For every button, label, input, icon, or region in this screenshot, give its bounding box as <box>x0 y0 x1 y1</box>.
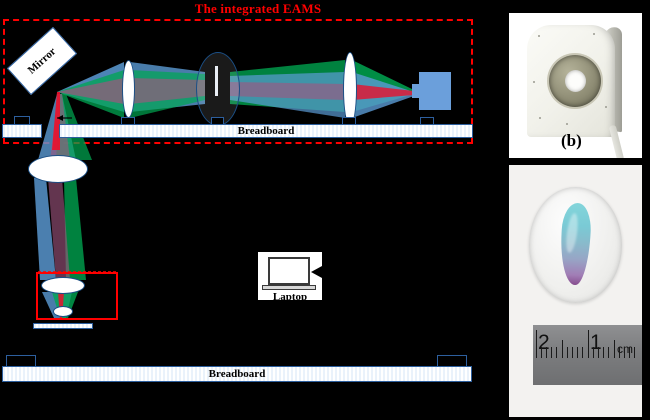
tube-lens <box>28 155 88 183</box>
mount-aperture-hole <box>565 70 586 92</box>
chopper-disc <box>196 52 240 126</box>
ruler-tick-minor <box>634 347 635 358</box>
mount-screw <box>538 35 540 37</box>
page-title: The integrated EAMS <box>148 1 368 17</box>
laptop-label: Laptop <box>258 291 322 300</box>
collimating-lens <box>122 60 135 118</box>
ruler-label-2: 2 <box>538 331 550 355</box>
mount-screw <box>566 123 568 125</box>
mount-screw <box>539 117 541 119</box>
mount-screw <box>593 33 595 35</box>
breadboard-top: Breadboard <box>59 124 473 138</box>
ruler-tick-mid <box>614 340 615 358</box>
ruler-tick-minor <box>556 347 557 358</box>
breadboard-bottom: Breadboard <box>2 366 472 382</box>
chopper-slit <box>215 66 218 96</box>
detector-nose <box>412 84 420 98</box>
ruler-tick-major <box>588 330 589 358</box>
mount-foot <box>437 355 467 366</box>
ruler-tick-minor <box>624 347 625 358</box>
detector-component <box>419 72 451 110</box>
mount-screw <box>533 81 535 83</box>
ruler-tick-major <box>536 330 537 358</box>
ruler-tick-minor <box>541 347 542 358</box>
sample-slide <box>33 323 93 329</box>
breadboard-bottom-label: Breadboard <box>209 368 266 380</box>
ruler-tick-minor <box>551 347 552 358</box>
ruler-tick-minor <box>598 347 599 358</box>
panel-b-photo: (b) <box>509 13 642 158</box>
objective-tip <box>53 306 73 317</box>
ruler-tick-minor <box>567 347 568 358</box>
laptop-screen <box>268 257 310 285</box>
panel-b-label: (b) <box>561 131 582 151</box>
ruler-tick-minor <box>619 347 620 358</box>
ruler-tick-minor <box>582 347 583 358</box>
ruler-tick-minor <box>572 347 573 358</box>
breadboard-segment-left <box>2 124 42 138</box>
ruler-tick-mid <box>562 340 563 358</box>
ruler-tick-minor <box>546 347 547 358</box>
objective-lens <box>41 277 85 294</box>
ruler-tick-minor <box>577 347 578 358</box>
ruler-tick-minor <box>593 347 594 358</box>
ruler-tick-minor <box>608 347 609 358</box>
mount-foot <box>6 355 36 366</box>
ruler-tick-minor <box>603 347 604 358</box>
sample-photo: 2 1 cm <box>509 165 642 417</box>
figure-canvas: The integrated EAMS <box>0 0 650 420</box>
focusing-lens <box>343 52 357 126</box>
ruler-label-1: 1 <box>590 331 602 355</box>
breadboard-top-label: Breadboard <box>238 125 295 137</box>
ruler-tick-minor <box>629 347 630 358</box>
ruler: 2 1 cm <box>533 325 642 385</box>
mount-screw <box>605 106 607 108</box>
laptop-arrow-icon <box>311 266 322 278</box>
mirror-label: Mirror <box>26 45 59 76</box>
laptop-base <box>262 285 316 290</box>
